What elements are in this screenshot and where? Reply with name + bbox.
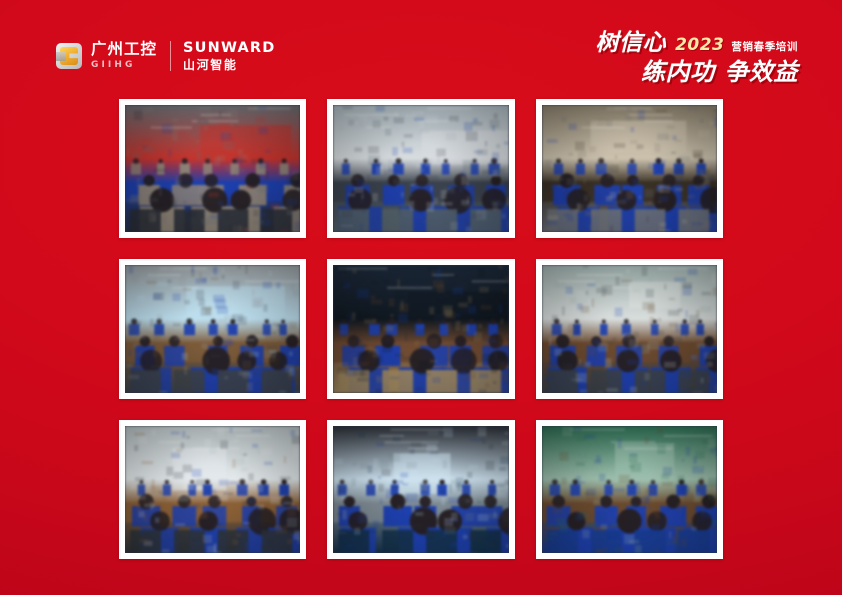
photo-frame[interactable] xyxy=(536,99,723,238)
photo-image xyxy=(125,105,300,232)
partner-name-block: SUNWARD 山河智能 xyxy=(183,41,276,72)
partner-english-name: SUNWARD xyxy=(183,41,276,56)
photo-frame[interactable] xyxy=(327,259,514,398)
photo-frame[interactable] xyxy=(536,259,723,398)
partner-chinese-name: 山河智能 xyxy=(183,59,276,71)
photo-canvas xyxy=(125,105,300,232)
photo-image xyxy=(125,265,300,392)
photo-canvas xyxy=(333,426,508,553)
photo-canvas xyxy=(333,265,508,392)
photo-frame[interactable] xyxy=(327,420,514,559)
photo-image xyxy=(333,265,508,392)
photo-image xyxy=(125,426,300,553)
poster-header: 广州工控 GIIHG SUNWARD 山河智能 树信心 2023 营销春季培训 … xyxy=(0,0,842,92)
photo-image xyxy=(542,105,717,232)
slogan-block: 树信心 2023 营销春季培训 练内功 争效益 xyxy=(596,32,798,84)
photo-image xyxy=(542,265,717,392)
photo-canvas xyxy=(542,426,717,553)
photo-image xyxy=(542,426,717,553)
photo-canvas xyxy=(125,426,300,553)
photo-canvas xyxy=(333,105,508,232)
poster-page: 广州工控 GIIHG SUNWARD 山河智能 树信心 2023 营销春季培训 … xyxy=(0,0,842,595)
photo-image xyxy=(333,105,508,232)
slogan-subtitle: 营销春季培训 xyxy=(731,42,798,53)
slogan-line2-main: 练内功 xyxy=(641,60,715,84)
brand-divider xyxy=(170,41,171,71)
brand-name-block: 广州工控 GIIHG xyxy=(91,42,157,70)
photo-frame[interactable] xyxy=(327,99,514,238)
slogan-year: 2023 xyxy=(675,37,724,54)
slogan-line2-tail: 争效益 xyxy=(725,60,799,84)
brand-chinese-name: 广州工控 xyxy=(91,42,157,58)
photo-canvas xyxy=(542,105,717,232)
photo-frame[interactable] xyxy=(119,99,306,238)
slogan-line-2: 练内功 争效益 xyxy=(596,60,798,84)
brand-english-name: GIIHG xyxy=(91,61,157,70)
photo-image xyxy=(333,426,508,553)
photo-frame[interactable] xyxy=(119,259,306,398)
slogan-line1-main: 树信心 xyxy=(596,32,667,55)
slogan-line-1: 树信心 2023 营销春季培训 xyxy=(596,32,798,55)
photo-canvas xyxy=(542,265,717,392)
photo-canvas xyxy=(125,265,300,392)
photo-frame[interactable] xyxy=(119,420,306,559)
brand-lockup: 广州工控 GIIHG SUNWARD 山河智能 xyxy=(56,38,276,74)
photo-gallery xyxy=(119,99,723,559)
photo-frame[interactable] xyxy=(536,420,723,559)
giihg-g-logo-icon xyxy=(56,43,82,69)
